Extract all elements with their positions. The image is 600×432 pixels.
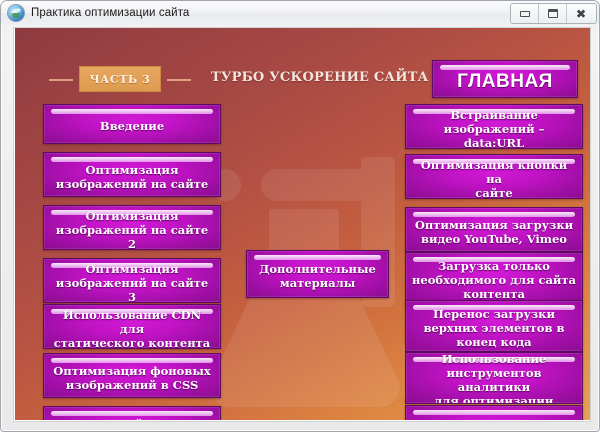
close-button[interactable]: ✖: [567, 4, 596, 23]
nav-button-label: Оптимизация загрузки видео YouTube, Vime…: [409, 211, 579, 249]
nav-button-left-6[interactable]: Оптимизация фоновых изображений в CSS: [43, 353, 221, 398]
nav-button-label: CSS спрайты для изображений: [68, 410, 196, 421]
nav-button-label: Встраивание изображений – data:URL: [406, 104, 582, 149]
nav-button-label: Оптимизация изображений на сайте: [50, 156, 214, 194]
header-dash-left: [49, 79, 73, 81]
slide-title: ТУРБО УСКОРЕНИЕ САЙТА: [211, 70, 428, 85]
minimize-button[interactable]: [511, 4, 539, 23]
header-dash-right: [167, 79, 191, 81]
nav-button-label: Перенос загрузки верхних элементов в кон…: [418, 300, 571, 352]
nav-button-right-7[interactable]: Заключение: [405, 405, 583, 420]
nav-button-right-3[interactable]: Оптимизация загрузки видео YouTube, Vime…: [405, 207, 583, 252]
window-controls: ✖: [510, 3, 597, 24]
nav-button-left-7[interactable]: CSS спрайты для изображений: [43, 406, 221, 420]
minimize-icon: [520, 11, 530, 17]
nav-button-label: Заключение: [446, 416, 542, 421]
nav-button-label: Использование инструментов аналитики для…: [406, 352, 582, 404]
slide-background: ЧАСТЬ 3 ТУРБО УСКОРЕНИЕ САЙТА ГЛАВНАЯ Вв…: [15, 28, 591, 420]
nav-button-label: Загрузка только необходимого для сайта к…: [406, 252, 582, 304]
nav-button-right-4[interactable]: Загрузка только необходимого для сайта к…: [405, 252, 583, 304]
close-icon: ✖: [576, 8, 587, 20]
home-button-label: ГЛАВНАЯ: [451, 63, 559, 95]
nav-button-left-5[interactable]: Использование CDN для статического конте…: [43, 304, 221, 349]
window-title: Практика оптимизации сайта: [31, 7, 189, 19]
button-sheen: [413, 410, 575, 415]
home-button[interactable]: ГЛАВНАЯ: [432, 60, 578, 98]
application-window: Практика оптимизации сайта ✖: [0, 0, 600, 432]
nav-button-label: Оптимизация изображений на сайте 3: [44, 258, 220, 303]
nav-button-left-2[interactable]: Оптимизация изображений на сайте: [43, 152, 221, 197]
maximize-button[interactable]: [539, 4, 567, 23]
nav-button-right-5[interactable]: Перенос загрузки верхних элементов в кон…: [405, 300, 583, 352]
nav-button-label: Введение: [94, 112, 170, 136]
nav-button-left-3[interactable]: Оптимизация изображений на сайте 2: [43, 205, 221, 250]
slide-canvas: ЧАСТЬ 3 ТУРБО УСКОРЕНИЕ САЙТА ГЛАВНАЯ Вв…: [13, 27, 591, 422]
nav-button-left-4[interactable]: Оптимизация изображений на сайте 3: [43, 258, 221, 303]
globe-icon: [8, 5, 24, 21]
nav-button-label: Оптимизация фоновых изображений в CSS: [47, 357, 216, 395]
nav-button-label: Оптимизация изображений на сайте 2: [44, 205, 220, 250]
nav-button-left-1[interactable]: Введение: [43, 104, 221, 144]
nav-button-label: Использование CDN для статического конте…: [44, 304, 220, 349]
nav-button-right-1[interactable]: Встраивание изображений – data:URL: [405, 104, 583, 149]
additional-materials-label: Дополнительные материалы: [253, 255, 382, 293]
title-bar: Практика оптимизации сайта ✖: [1, 1, 600, 25]
part-badge-label: ЧАСТЬ 3: [90, 73, 151, 86]
nav-button-right-6[interactable]: Использование инструментов аналитики для…: [405, 352, 583, 404]
nav-button-label: Оптимизация кнопки на сайте: [406, 154, 582, 199]
additional-materials-button[interactable]: Дополнительные материалы: [246, 250, 389, 298]
maximize-icon: [548, 9, 558, 18]
nav-button-right-2[interactable]: Оптимизация кнопки на сайте: [405, 154, 583, 199]
part-badge: ЧАСТЬ 3: [79, 66, 161, 92]
